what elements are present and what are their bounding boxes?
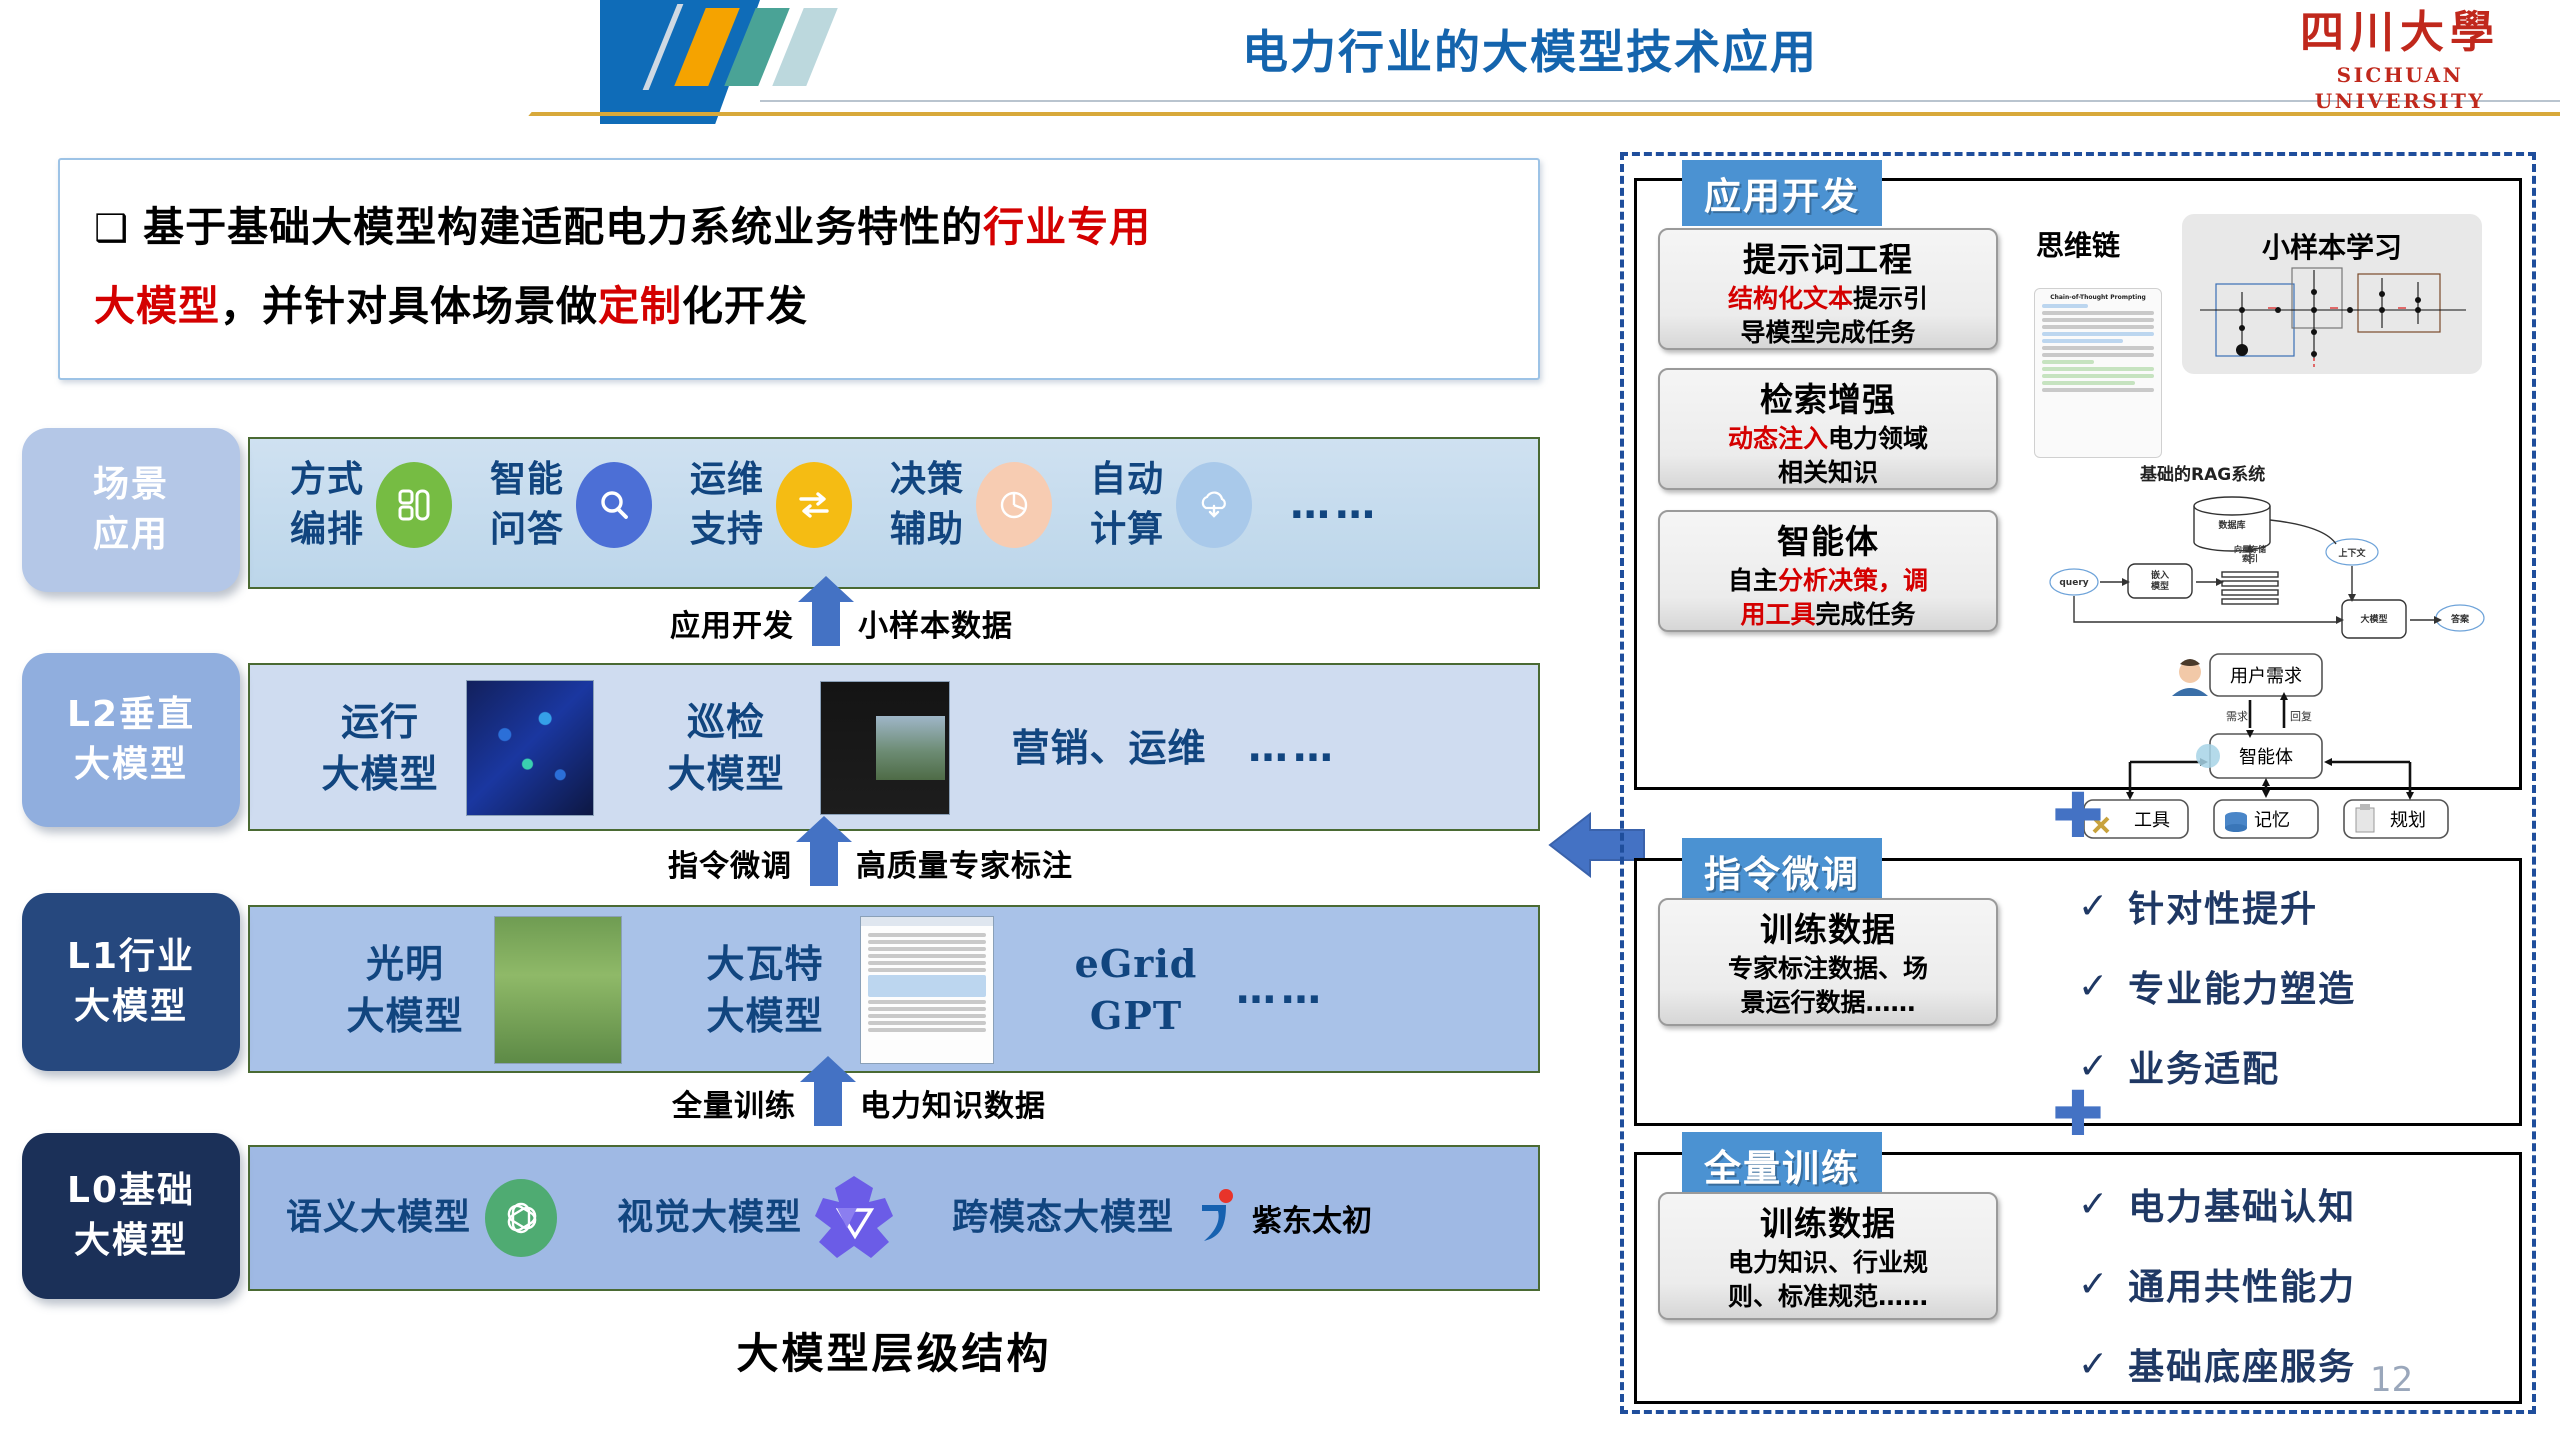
l2-item-marketing-label: 营销、运维 [994,722,1224,774]
callout-text-b: ，并针对具体场景做 [220,282,598,330]
card-title: 智能体 [1666,520,1990,564]
database-icon [2225,812,2247,832]
layer-tab-l1-line2: 大模型 [67,982,195,1032]
layer-tab-scene[interactable]: 场景 应用 [22,428,240,592]
card-desc-line2: 则、标准规范…… [1666,1280,1990,1314]
l2-item-inspection-label: 巡检 大模型 [636,696,816,800]
check-item: ✓ 针对性提升 [2078,880,2356,932]
cot-card-title: Chain-of-Thought Prompting [2040,294,2156,301]
rag-system-diagram: query 嵌入模型 数据库 向量存储索引 上下文 大模型 答案 [2042,490,2492,650]
l2-label-line2: 大模型 [300,748,460,800]
card-desc-line1: 结构化文本提示引 [1666,282,1990,316]
l1-ellipsis: …… [1236,967,1326,1013]
scene-label-line1: 智能 [490,455,564,505]
scene-label-line2: 问答 [490,505,564,555]
card-desc-highlight-2: 用工具 [1740,600,1815,629]
callout-text-a: 基于基础大模型构建适配电力系统业务特性的 [143,203,983,251]
scene-item-autocompute[interactable]: 自动 计算 [1090,455,1252,555]
few-shot-graph-diagram [2182,262,2482,372]
card-desc-rest2: 完成任务 [1816,600,1916,629]
layer-tab-l0[interactable]: L0基础 大模型 [22,1133,240,1299]
connector-left-label: 应用开发 [670,601,794,645]
check-icon: ✓ [2078,886,2108,927]
check-label: 基础底座服务 [2128,1338,2356,1390]
l2-label-line1: 运行 [300,696,460,748]
checklist-fulltrain: ✓ 电力基础认知 ✓ 通用共性能力 ✓ 基础底座服务 [2078,1178,2356,1418]
field-detection-thumb [494,916,622,1064]
svg-text:数据库: 数据库 [2218,519,2245,531]
callout-line-1: ❑基于基础大模型构建适配电力系统业务特性的行业专用 [94,188,1504,267]
check-icon: ✓ [2078,1344,2108,1385]
form-ui-thumb [860,916,994,1064]
scene-item-qa[interactable]: 智能 问答 [490,455,652,555]
card-agent[interactable]: 智能体 自主分析决策，调 用工具完成任务 [1658,510,1998,632]
scene-item-decision[interactable]: 决策 辅助 [890,455,1052,555]
rag-node-query: query [2059,578,2088,588]
svg-text:索引: 索引 [2242,553,2258,563]
l1-item-guangming-label: 光明 大模型 [320,938,490,1042]
card-desc-line2: 景运行数据…… [1666,986,1990,1020]
layer-tab-scene-line1: 场景 [93,460,169,510]
chain-of-thought-label: 思维链 [2036,224,2120,264]
summary-callout-box: ❑基于基础大模型构建适配电力系统业务特性的行业专用 大模型，并针对具体场景做定制… [58,158,1540,380]
card-title: 训练数据 [1666,908,1990,952]
l1-label-line1: 光明 [320,938,490,990]
scene-item-label: 方式 编排 [290,455,364,555]
l1-item-egrid-label: eGrid GPT [1046,938,1226,1042]
l0-item-vision-label: 视觉大模型 [617,1192,802,1244]
zidongtaichu-brand-text: 紫东太初 [1252,1196,1372,1240]
connector-right-label: 高质量专家标注 [856,841,1073,885]
agent-edge-reply: 回复 [2290,709,2312,723]
svg-text:上下文: 上下文 [2338,547,2366,559]
clipboard-icon [2356,804,2374,832]
agent-node-agent: 智能体 [2239,747,2293,768]
up-arrow-icon [812,600,840,646]
card-desc-highlight: 分析决策，调 [1778,566,1928,595]
card-desc-rest: 提示引 [1853,284,1928,313]
agent-edge-request: 需求 [2226,710,2248,723]
card-desc-line2: 用工具完成任务 [1666,598,1990,632]
section-tag-instruction-finetuning: 指令微调 [1682,838,1882,904]
card-desc-rest: 电力领域 [1828,424,1928,453]
check-label: 针对性提升 [2128,880,2318,932]
layer-tab-l2[interactable]: L2垂直 大模型 [22,653,240,827]
l1-label-line2: GPT [1046,990,1226,1042]
check-icon: ✓ [2078,1184,2108,1225]
card-desc-line1: 动态注入电力领域 [1666,422,1990,456]
layer-tab-l0-line2: 大模型 [67,1216,195,1266]
l0-items-row: 语义大模型 视觉大模型 跨模态大模型 紫东太初 [286,1180,1372,1256]
scene-item-label: 智能 问答 [490,455,564,555]
scene-label-line2: 计算 [1090,505,1164,555]
l0-item-semantic-label: 语义大模型 [286,1192,471,1244]
card-title: 提示词工程 [1666,238,1990,282]
callout-text-highlight-1: 行业专用 [983,203,1151,251]
agent-node-memory: 记忆 [2254,810,2290,831]
l1-label-line1: eGrid [1046,938,1226,990]
l2-label-line1: 巡检 [636,696,816,748]
check-label: 通用共性能力 [2128,1258,2356,1310]
scene-label-line2: 辅助 [890,505,964,555]
brain-icon [2196,744,2220,768]
connector-right-label: 小样本数据 [858,601,1013,645]
check-icon: ✓ [2078,966,2108,1007]
card-desc-line1: 电力知识、行业规 [1666,1246,1990,1280]
check-icon: ✓ [2078,1264,2108,1305]
card-desc-line2: 导模型完成任务 [1666,316,1990,350]
page-title: 电力行业的大模型技术应用 [880,10,2180,94]
pie-chart-icon [976,462,1052,548]
callout-bullet-icon: ❑ [94,206,129,250]
header-gold-rule-angled [528,112,711,116]
agent-node-planning: 规划 [2390,810,2426,831]
zidongtaichu-logo-icon: 紫东太初 [1190,1187,1372,1249]
scene-label-line1: 自动 [1090,455,1164,505]
layer-tab-l0-line1: L0基础 [67,1166,195,1216]
svg-text:答案: 答案 [2450,613,2470,625]
l2-label-line2: 大模型 [636,748,816,800]
card-training-data-finetune[interactable]: 训练数据 专家标注数据、场 景运行数据…… [1658,898,1998,1026]
check-label: 电力基础认知 [2128,1178,2356,1230]
connector-fulltrain: 全量训练 电力知识数据 [672,1080,1046,1126]
check-item: ✓ 基础底座服务 [2078,1338,2356,1390]
user-avatar-icon [2172,659,2208,696]
layer-tab-l2-line2: 大模型 [67,740,195,790]
check-item: ✓ 电力基础认知 [2078,1178,2356,1230]
svg-text:向量存储: 向量存储 [2234,544,2266,554]
layer-tab-scene-line2: 应用 [93,510,169,560]
connector-right-label: 电力知识数据 [860,1081,1046,1125]
connector-app-dev: 应用开发 小样本数据 [670,600,1013,646]
card-desc-line1: 自主分析决策，调 [1666,564,1990,598]
l1-label-line2: 大模型 [670,990,860,1042]
layer-tab-l2-line1: L2垂直 [67,690,195,740]
l2-item-operation-label: 运行 大模型 [300,696,460,800]
scene-label-line1: 方式 [290,455,364,505]
svg-text:模型: 模型 [2151,580,2169,592]
inspection-console-thumb [820,681,950,815]
vision-model-logo-icon [808,1170,900,1266]
check-item: ✓ 业务适配 [2078,1040,2356,1092]
svg-text:嵌入: 嵌入 [2151,569,2169,581]
card-desc-pre: 自主 [1728,566,1778,595]
diagram-caption: 大模型层级结构 [248,1320,1540,1381]
power-grid-network-thumb [466,680,594,816]
callout-text-c: 化开发 [682,282,808,330]
l1-label-line2: 大模型 [320,990,490,1042]
callout-text-highlight-3: 定制 [598,282,682,330]
agent-architecture-diagram: 用户需求 智能体 工具 记忆 规划 需求 回复 [2060,650,2480,840]
layer-tab-l1-line1: L1行业 [67,932,195,982]
scene-item-label: 运维 支持 [690,455,764,555]
scene-ellipsis: …… [1290,482,1380,528]
rag-system-caption: 基础的RAG系统 [2140,460,2265,485]
cloud-download-icon [1176,462,1252,548]
modules-icon [376,462,452,548]
l0-item-multimodal-label: 跨模态大模型 [952,1192,1174,1244]
agent-node-user-need: 用户需求 [2230,666,2302,687]
scene-item-label: 决策 辅助 [890,455,964,555]
scene-item-orchestration[interactable]: 方式 编排 [290,455,452,555]
check-label: 业务适配 [2128,1040,2280,1092]
slide-header: 应用层级结构 电力行业的大模型技术应用 四川大學 SICHUAN UNIVERS… [0,0,2560,124]
page-number: 12 [2370,1360,2413,1400]
section-tag-app-development: 应用开发 [1682,160,1882,226]
check-icon: ✓ [2078,1046,2108,1087]
l2-ellipsis: …… [1248,725,1338,771]
l2-items-row: 运行 大模型 巡检 大模型 营销、运维 …… [300,680,1338,816]
check-label: 专业能力塑造 [2128,960,2356,1012]
callout-line-2: 大模型，并针对具体场景做定制化开发 [94,267,1504,345]
exchange-icon [776,462,852,548]
check-item: ✓ 通用共性能力 [2078,1258,2356,1310]
l1-items-row: 光明 大模型 大瓦特 大模型 eGrid GPT …… [320,916,1326,1064]
connector-left-label: 指令微调 [668,841,792,885]
scene-items-row: 方式 编排 智能 问答 运维 支持 决策 辅助 [290,455,1380,555]
layer-tab-l1[interactable]: L1行业 大模型 [22,893,240,1071]
l1-label-line1: 大瓦特 [670,938,860,990]
logo-english-text: SICHUAN UNIVERSITY [2250,62,2550,114]
callout-text-highlight-2: 大模型 [94,282,220,330]
plus-sign-1: ✚ [2052,790,2104,842]
connector-finetune: 指令微调 高质量专家标注 [668,840,1073,886]
scene-item-label: 自动 计算 [1090,455,1164,555]
openai-logo-icon [485,1179,557,1257]
scene-label-line1: 决策 [890,455,964,505]
checklist-finetune: ✓ 针对性提升 ✓ 专业能力塑造 ✓ 业务适配 [2078,880,2356,1120]
card-prompt-engineering[interactable]: 提示词工程 结构化文本提示引 导模型完成任务 [1658,228,1998,350]
card-desc-highlight: 结构化文本 [1728,284,1853,313]
svg-text:大模型: 大模型 [2360,613,2387,625]
up-arrow-icon [814,1080,842,1126]
chain-of-thought-card: Chain-of-Thought Prompting [2034,288,2162,458]
search-icon [576,462,652,548]
few-shot-learning-box: 小样本学习 [2182,214,2482,374]
agent-node-tools: 工具 [2134,810,2170,831]
scene-item-ops[interactable]: 运维 支持 [690,455,852,555]
header-section-title: 应用层级结构 [30,14,336,86]
sichuan-university-logo: 四川大學 SICHUAN UNIVERSITY [2250,4,2550,110]
card-training-data-fulltrain[interactable]: 训练数据 电力知识、行业规 则、标准规范…… [1658,1192,1998,1320]
up-arrow-icon [810,840,838,886]
few-shot-learning-label: 小样本学习 [2182,226,2482,266]
card-title: 训练数据 [1666,1202,1990,1246]
card-retrieval-augmented[interactable]: 检索增强 动态注入电力领域 相关知识 [1658,368,1998,490]
card-title: 检索增强 [1666,378,1990,422]
scene-label-line2: 支持 [690,505,764,555]
check-item: ✓ 专业能力塑造 [2078,960,2356,1012]
connector-left-label: 全量训练 [672,1081,796,1125]
card-desc-line2: 相关知识 [1666,456,1990,490]
scene-label-line2: 编排 [290,505,364,555]
l1-item-dawate-label: 大瓦特 大模型 [670,938,860,1042]
section-tag-full-training: 全量训练 [1682,1132,1882,1198]
appdev-illustrations: 思维链 小样本学习 Chain-of-Thought Prompting [2030,210,2500,780]
logo-chinese-text: 四川大學 [2250,4,2550,62]
card-desc-highlight: 动态注入 [1728,424,1828,453]
scene-label-line1: 运维 [690,455,764,505]
card-desc-line1: 专家标注数据、场 [1666,952,1990,986]
